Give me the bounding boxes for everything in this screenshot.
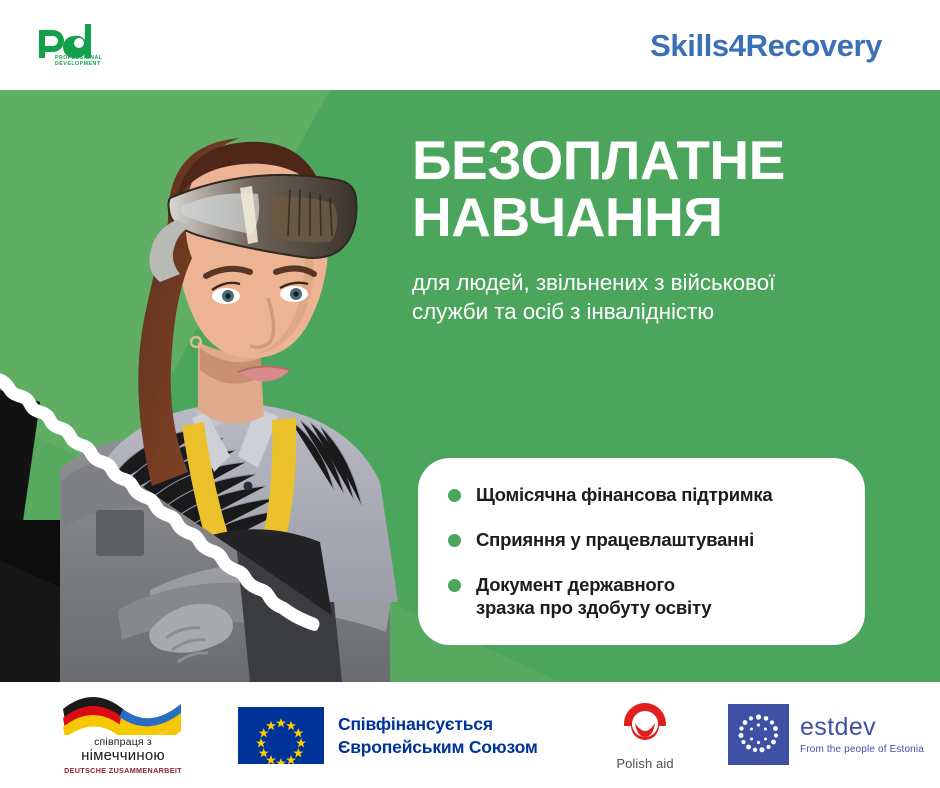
subheadline-line-2: служби та осіб з інвалідністю [412,298,912,326]
german-cooperation-logo: співпраця з німеччиною DEUTSCHE ZUSAMMEN… [38,695,208,775]
bullet-dot-icon [448,534,461,547]
eu-flag-icon [238,707,324,764]
pd-word-development: DEVELOPMENT [55,61,125,67]
pd-monogram-icon [33,24,125,58]
footer-bar: співпраця з німеччиною DEUTSCHE ZUSAMMEN… [0,682,940,788]
german-cooperation-caption: співпраця з німеччиною DEUTSCHE ZUSAMMEN… [38,736,208,775]
eu-cofunding-logo: Співфінансується Європейським Союзом [238,707,538,764]
benefit-text: Документ державного зразка про здобуту о… [476,574,711,620]
german-ukrainian-flag-icon [59,695,187,735]
subheadline: для людей, звільнених з військової служб… [412,269,912,326]
benefit-line-1: Щомісячна фінансова підтримка [476,484,773,505]
german-caption-line-3: DEUTSCHE ZUSAMMENARBEIT [38,766,208,775]
subheadline-line-1: для людей, звільнених з військової [412,270,775,295]
estdev-text: estdev From the people of Estonia [800,715,924,755]
hero-section: БЕЗОПЛАТНЕ НАВЧАННЯ для людей, звільнени… [0,90,940,682]
benefit-text: Сприяння у працевлаштуванні [476,529,754,552]
promotional-banner: PROFESSIONAL DEVELOPMENT Skills4Recovery [0,0,940,788]
polish-aid-logo: Polish aid [597,700,693,771]
brand-title: Skills4Recovery [650,28,882,64]
bullet-dot-icon [448,579,461,592]
pd-logo: PROFESSIONAL DEVELOPMENT [33,24,125,76]
bullet-dot-icon [448,489,461,502]
german-caption-line-2: німеччиною [38,747,208,764]
header-bar: PROFESSIONAL DEVELOPMENT Skills4Recovery [0,0,940,90]
headline: БЕЗОПЛАТНЕ НАВЧАННЯ [412,132,912,246]
eu-caption-line-1: Співфінансується [338,714,493,734]
eu-caption-line-2: Європейським Союзом [338,736,538,758]
worker-photo-illustration [0,90,430,682]
estdev-tagline: From the people of Estonia [800,744,924,755]
estdev-mark-icon [728,704,789,765]
hero-photo [0,90,430,682]
benefit-line-1: Сприяння у працевлаштуванні [476,529,754,550]
pd-wordmark: PROFESSIONAL DEVELOPMENT [55,55,125,68]
benefits-list: Щомісячна фінансова підтримка Сприяння у… [448,484,835,620]
benefits-card: Щомісячна фінансова підтримка Сприяння у… [418,458,865,645]
polish-aid-mark-icon [619,700,671,748]
list-item: Документ державного зразка про здобуту о… [448,574,835,620]
headline-line-1: БЕЗОПЛАТНЕ [412,129,785,191]
benefit-line-2: зразка про здобуту освіту [476,597,711,620]
estdev-logo: estdev From the people of Estonia [728,704,924,765]
benefit-line-1: Документ державного [476,574,675,595]
benefit-text: Щомісячна фінансова підтримка [476,484,773,507]
eu-caption: Співфінансується Європейським Союзом [338,713,538,757]
polish-aid-caption: Polish aid [597,756,693,771]
estdev-wordmark: estdev [800,715,924,740]
list-item: Щомісячна фінансова підтримка [448,484,835,507]
headline-line-2: НАВЧАННЯ [412,189,912,246]
list-item: Сприяння у працевлаштуванні [448,529,835,552]
hero-text-block: БЕЗОПЛАТНЕ НАВЧАННЯ для людей, звільнени… [412,132,912,326]
